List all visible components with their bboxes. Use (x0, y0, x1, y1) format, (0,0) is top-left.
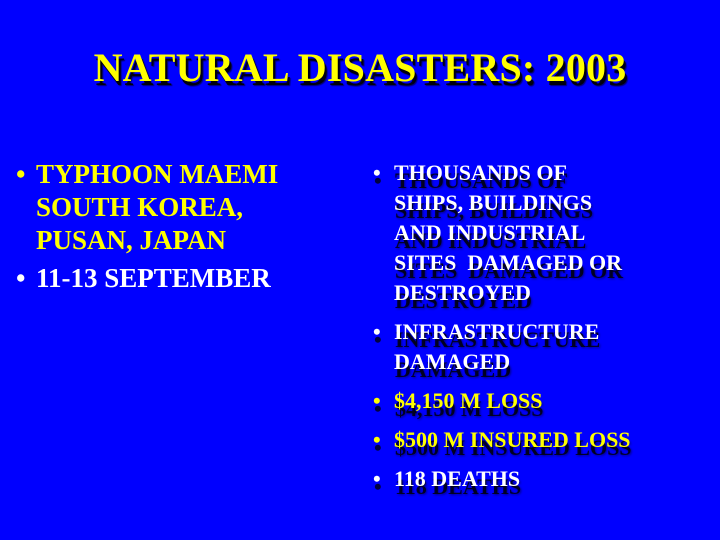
right-content-column: • THOUSANDS OF SHIPS, BUILDINGS AND INDU… (366, 158, 718, 496)
bullet-marker-icon: • (373, 386, 381, 416)
list-item-line: AND INDUSTRIAL (394, 218, 718, 248)
list-item-line: $500 M INSURED LOSS (394, 425, 718, 455)
list-item: • 118 DEATHS (366, 464, 718, 494)
list-item-text: INFRASTRUCTURE DAMAGED (394, 317, 718, 377)
list-item-line: 11-13 SEPTEMBER (36, 262, 358, 295)
list-item-text: THOUSANDS OF SHIPS, BUILDINGS AND INDUST… (394, 158, 718, 308)
list-item-text: 11-13 SEPTEMBER (36, 262, 358, 295)
list-item-line: THOUSANDS OF (394, 158, 718, 188)
list-item-line: PUSAN, JAPAN (36, 224, 358, 257)
list-item-line: SOUTH KOREA, (36, 191, 358, 224)
list-item: • $500 M INSURED LOSS (366, 425, 718, 455)
presentation-slide: NATURAL DISASTERS: 2003 • TYPHOON MAEMI … (0, 0, 720, 540)
page-title: NATURAL DISASTERS: 2003 (0, 46, 720, 90)
bullet-marker-icon: • (16, 262, 25, 295)
bullet-marker-icon: • (16, 158, 25, 191)
list-item-text: $4,150 M LOSS (394, 386, 718, 416)
list-item-line: DESTROYED (394, 278, 718, 308)
list-item: • 11-13 SEPTEMBER (6, 262, 358, 295)
list-item-text: TYPHOON MAEMI SOUTH KOREA, PUSAN, JAPAN (36, 158, 358, 257)
bullet-marker-icon: • (373, 317, 381, 347)
list-item-line: DAMAGED (394, 347, 718, 377)
list-item-text: 118 DEATHS (394, 464, 718, 494)
bullet-marker-icon: • (373, 158, 381, 188)
list-item-text: $500 M INSURED LOSS (394, 425, 718, 455)
list-item-line: TYPHOON MAEMI (36, 158, 358, 191)
left-content-column: • TYPHOON MAEMI SOUTH KOREA, PUSAN, JAPA… (6, 158, 358, 297)
list-item-line: SHIPS, BUILDINGS (394, 188, 718, 218)
bullet-marker-icon: • (373, 464, 381, 494)
list-item-line: 118 DEATHS (394, 464, 718, 494)
list-item-line: INFRASTRUCTURE (394, 317, 718, 347)
list-item: • THOUSANDS OF SHIPS, BUILDINGS AND INDU… (366, 158, 718, 308)
list-item: • $4,150 M LOSS (366, 386, 718, 416)
list-item: • TYPHOON MAEMI SOUTH KOREA, PUSAN, JAPA… (6, 158, 358, 257)
bullet-marker-icon: • (373, 425, 381, 455)
list-item: • INFRASTRUCTURE DAMAGED (366, 317, 718, 377)
list-item-line: $4,150 M LOSS (394, 386, 718, 416)
list-item-line: SITES DAMAGED OR (394, 248, 718, 278)
